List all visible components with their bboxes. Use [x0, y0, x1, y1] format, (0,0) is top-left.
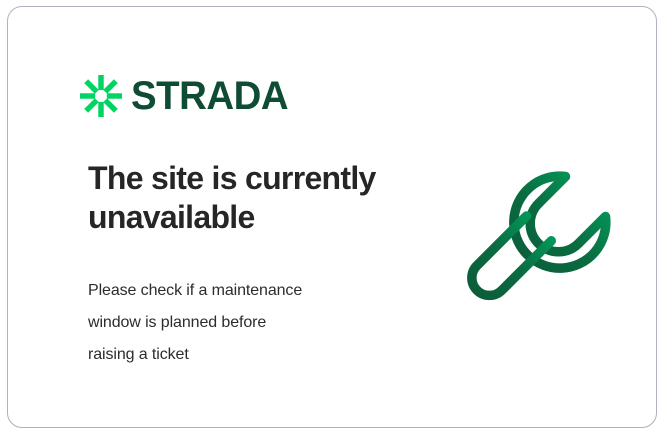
status-description-line-2: window is planned before	[88, 307, 398, 339]
brand-wordmark: STRADA	[131, 76, 288, 116]
status-description: Please check if a maintenance window is …	[88, 275, 398, 371]
strada-asterisk-icon	[80, 75, 122, 117]
page-title-line-2: unavailable	[88, 199, 255, 235]
status-description-line-1: Please check if a maintenance	[88, 275, 398, 307]
page-title: The site is currentlyunavailable	[88, 159, 418, 237]
status-description-line-3: raising a ticket	[88, 339, 398, 371]
brand-lockup: STRADA	[80, 75, 295, 117]
page-title-line-1: The site is currently	[88, 160, 376, 196]
page-root: STRADA The site is currentlyunavailable …	[0, 0, 666, 436]
wrench-icon	[455, 155, 627, 327]
status-card: STRADA The site is currentlyunavailable …	[7, 6, 657, 428]
